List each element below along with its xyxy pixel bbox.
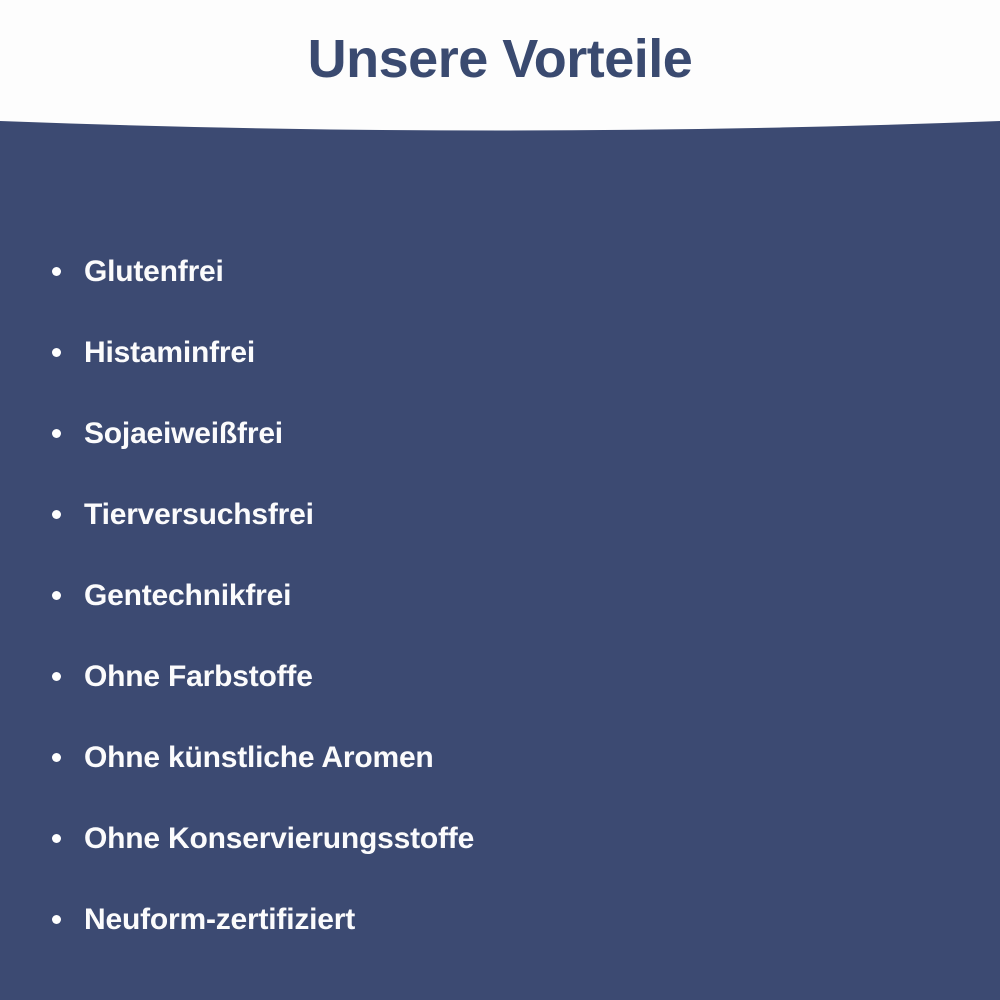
benefit-label: Ohne Farbstoffe xyxy=(84,662,313,692)
bullet-icon xyxy=(52,753,61,762)
bullet-icon xyxy=(52,267,61,276)
benefit-label: Ohne Konservierungsstoffe xyxy=(84,824,474,854)
list-item: Histaminfrei xyxy=(0,312,1000,393)
list-item: Tierversuchsfrei xyxy=(0,474,1000,555)
benefit-label: Ohne künstliche Aromen xyxy=(84,743,434,773)
benefit-label: Sojaeiweißfrei xyxy=(84,419,283,449)
bullet-icon xyxy=(52,510,61,519)
benefits-list: Glutenfrei Histaminfrei Sojaeiweißfrei T… xyxy=(0,231,1000,960)
benefit-label: Glutenfrei xyxy=(84,257,224,287)
benefit-label: Gentechnikfrei xyxy=(84,581,291,611)
benefit-label: Neuform-zertifiziert xyxy=(84,905,355,935)
page-title: Unsere Vorteile xyxy=(0,0,1000,118)
bullet-icon xyxy=(52,915,61,924)
list-item: Ohne künstliche Aromen xyxy=(0,717,1000,798)
bullet-icon xyxy=(52,591,61,600)
bullet-icon xyxy=(52,348,61,357)
bullet-icon xyxy=(52,672,61,681)
benefit-label: Histaminfrei xyxy=(84,338,255,368)
list-item: Glutenfrei xyxy=(0,231,1000,312)
bullet-icon xyxy=(52,429,61,438)
list-item: Sojaeiweißfrei xyxy=(0,393,1000,474)
benefits-poster: Unsere Vorteile Glutenfrei Histaminfrei … xyxy=(0,0,1000,1000)
benefit-label: Tierversuchsfrei xyxy=(84,500,314,530)
list-item: Gentechnikfrei xyxy=(0,555,1000,636)
list-item: Ohne Konservierungsstoffe xyxy=(0,798,1000,879)
bullet-icon xyxy=(52,834,61,843)
list-item: Neuform-zertifiziert xyxy=(0,879,1000,960)
list-item: Ohne Farbstoffe xyxy=(0,636,1000,717)
